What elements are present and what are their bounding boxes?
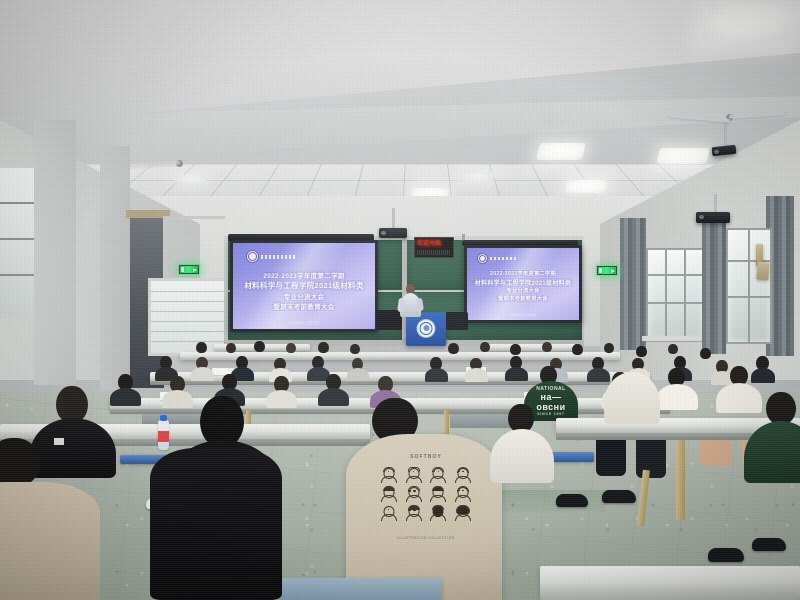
university-wordmark [261, 255, 295, 259]
right-projection-screen: 2022-2023学年度第二学期 材料科学与工程学院2021级材料类 专业分流大… [464, 245, 582, 323]
audience-member [604, 343, 614, 353]
bottle-cap [160, 415, 167, 421]
right-curtain [620, 218, 646, 350]
slide-line-1: 2022-2023学年度第二学期 [467, 270, 579, 277]
university-seal-icon [247, 251, 258, 262]
front-table [486, 344, 576, 351]
tee-face [428, 466, 450, 483]
presenter-arm [416, 298, 424, 312]
tee-face [428, 485, 450, 502]
left-projection-screen: 2022-2023学年度第二学期 材料科学与工程学院2021级材料类 专业分流大… [230, 240, 378, 332]
projector-lens-icon [714, 149, 719, 154]
shirt-logo [54, 438, 78, 445]
tee-brand-text: SOFTBOY [374, 454, 478, 460]
slide-line-4: 暨期末考前教育大会 [233, 301, 375, 311]
slide-footer: 材料科学与工程学院 [233, 320, 375, 325]
audience-member [508, 404, 534, 432]
projector-mount-pole [724, 122, 727, 148]
tee-face [452, 485, 474, 502]
led-marquee-text: 欢迎光临 [417, 241, 451, 247]
audience-member [730, 366, 748, 385]
audience-member [430, 357, 442, 370]
tee-face-grid [378, 466, 474, 521]
ceiling-projector [379, 228, 407, 238]
right-curtain [702, 212, 726, 354]
head [56, 386, 88, 422]
exit-sign-left [178, 264, 200, 275]
ceiling-light-panel [565, 180, 608, 193]
shoe [752, 538, 786, 551]
torso [150, 448, 282, 600]
audience-member [636, 346, 647, 357]
podium-emblem-icon [418, 320, 435, 337]
audience-member [510, 344, 521, 355]
audience-member [480, 342, 490, 352]
ceiling-light-panel [175, 175, 206, 184]
water-bottle [158, 420, 169, 450]
desk-underbin [450, 414, 512, 428]
slide-line-3: 专业分流大会 [467, 287, 579, 294]
tee-face [378, 485, 400, 502]
ceiling-light-panel [701, 4, 797, 40]
audience-member [572, 344, 583, 355]
audience-member [170, 376, 185, 392]
audience-member [318, 342, 329, 353]
tee-face [403, 485, 425, 502]
lecture-hall-photo: 2022-2023学年度第二学期 材料科学与工程学院2021级材料类 专业分流大… [0, 0, 800, 600]
audience-member [510, 356, 522, 369]
tee-face [378, 466, 400, 483]
university-seal-icon [478, 254, 487, 263]
ceiling-light-panel [459, 171, 495, 182]
audience-member [756, 356, 769, 370]
audience-member [632, 358, 644, 370]
presenter [398, 284, 424, 318]
led-dot-row [417, 250, 451, 255]
audience-member [236, 356, 248, 369]
torso [0, 482, 100, 600]
desk-row-foreground [540, 566, 800, 600]
shoe [556, 494, 588, 507]
foreground-student-beige-tee: SOFTBOY ILLUSTRATION COLLECTION [346, 398, 392, 442]
right-window [726, 228, 772, 344]
right-window [646, 248, 706, 342]
tee-face [452, 466, 474, 483]
audience-member [326, 374, 341, 390]
audience-member [274, 358, 286, 370]
tee-face [378, 504, 400, 521]
left-far-window [0, 168, 36, 318]
desk-leg [676, 440, 685, 520]
tee-face [428, 504, 450, 521]
projector-mount-pole [392, 208, 395, 230]
ceiling-light-panel [656, 148, 710, 164]
audience-member [448, 343, 459, 354]
audience-member [196, 342, 207, 353]
audience-member [274, 376, 289, 392]
desk-row-foreground [282, 578, 442, 600]
bottle-label [158, 431, 169, 442]
projector-mount-pole [714, 194, 717, 214]
audience-member [592, 357, 604, 370]
tee-face [403, 466, 425, 483]
audience-member [542, 342, 552, 352]
left-column-secondary [100, 146, 130, 391]
slide-footer: 材料科学与工程学院 [467, 313, 579, 317]
ceiling-projector [696, 212, 730, 223]
audience-member [668, 368, 685, 386]
slide-line-1: 2022-2023学年度第二学期 [233, 270, 375, 280]
conduit-pipe [163, 216, 225, 219]
head [766, 392, 796, 424]
audience-member [312, 356, 324, 369]
led-marquee-sign: 欢迎光临 [414, 237, 454, 258]
shirt-print-line-1: NATIONAL [526, 386, 576, 392]
slide-line-4: 暨期末考前教育大会 [467, 295, 579, 302]
audience-member [700, 348, 711, 359]
podium-monitor [446, 312, 468, 330]
audience-member [118, 374, 133, 390]
slide-line-2: 材料科学与工程学院2021级材料类 [467, 278, 579, 287]
slide-line-2: 材料科学与工程学院2021级材料类 [233, 280, 375, 291]
ceiling-light-panel [536, 143, 586, 160]
audience-member-nearest [0, 438, 30, 486]
audience-member [470, 358, 482, 370]
audience-member [226, 343, 236, 353]
audience-member [668, 344, 678, 354]
slide-line-3: 专业分流大会 [233, 291, 375, 301]
tee-subtext: ILLUSTRATION COLLECTION [374, 536, 478, 540]
audience-member [350, 344, 360, 354]
wall-speaker [756, 262, 769, 281]
audience-member [352, 358, 363, 370]
right-window-sill [642, 336, 706, 341]
audience-member [200, 396, 244, 446]
head [200, 396, 244, 446]
audience-member [196, 357, 208, 369]
university-wordmark [490, 257, 518, 260]
shoe [708, 548, 744, 562]
tee-face [403, 504, 425, 521]
projector-lens-icon [699, 215, 704, 219]
left-column [34, 120, 76, 385]
shoe [602, 490, 636, 503]
exit-sign-right [596, 265, 618, 276]
audience-member [766, 392, 796, 424]
audience-member [716, 360, 728, 373]
audience-member [56, 386, 88, 422]
audience-member [254, 341, 265, 352]
center-aisle-strip [494, 490, 613, 512]
tee-face [452, 504, 474, 521]
audience-member [378, 376, 393, 392]
audience-member [286, 343, 296, 353]
projector-lens-icon [381, 231, 386, 235]
slide-logo-lockup [247, 251, 295, 262]
head [508, 404, 534, 432]
audience-member-green-shirt: NATIONAL на—овсни SINCE 1997 [540, 366, 557, 384]
audience-member [222, 374, 237, 390]
audience-member [160, 356, 172, 369]
slide-logo-lockup [478, 254, 518, 263]
